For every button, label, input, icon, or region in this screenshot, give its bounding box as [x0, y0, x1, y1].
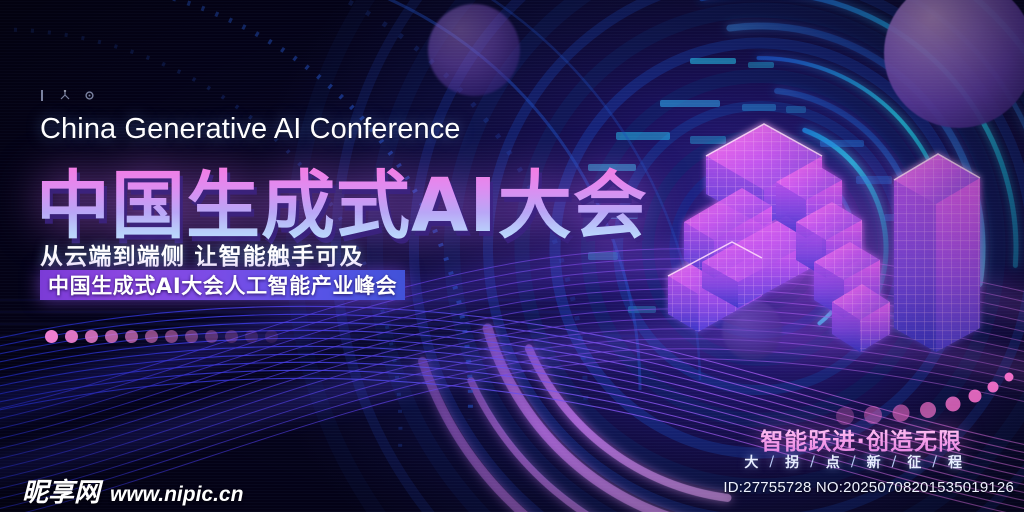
- pink-dot: [165, 330, 178, 343]
- slogan-separator: /: [921, 454, 948, 470]
- pink-dot: [125, 330, 138, 343]
- pink-dot-row: [45, 330, 278, 343]
- english-title: China Generative AI Conference: [40, 113, 461, 146]
- watermark: 昵享网 www.nipic.cn: [22, 472, 243, 509]
- slogan-word: 程: [948, 452, 962, 472]
- slogan-word: 大: [744, 452, 758, 472]
- watermark-url: www.nipic.cn: [110, 483, 243, 507]
- slogan-word: 新: [867, 452, 881, 472]
- pink-dot: [225, 330, 238, 343]
- pink-dot-arc: [835, 368, 1024, 430]
- decorative-icon-row: [38, 90, 95, 101]
- pink-dot-arc-svg: [835, 368, 1024, 430]
- slogan-separator: /: [840, 454, 867, 470]
- pink-dot: [265, 330, 278, 343]
- bar-icon: [38, 90, 46, 101]
- id-line: ID:27755728 NO:20250708201535019126: [723, 479, 1014, 496]
- tagline: 智能跃进·创造无限: [760, 422, 962, 456]
- pink-dot: [145, 330, 158, 343]
- chinese-band-text: 中国生成式AI大会人工智能产业峰会: [48, 270, 397, 300]
- chinese-subtitle: 从云端到端侧 让智能触手可及: [40, 237, 364, 271]
- pink-dot: [245, 330, 258, 343]
- watermark-site-name: 昵享网: [22, 472, 100, 509]
- slogan-word: 点: [826, 452, 840, 472]
- pink-dot: [205, 330, 218, 343]
- slogan-row: 大/拐/点/新/征/程: [744, 452, 962, 472]
- pink-dot: [85, 330, 98, 343]
- slogan-word: 拐: [785, 452, 799, 472]
- pink-dot: [105, 330, 118, 343]
- slogan-word: 征: [907, 452, 921, 472]
- slogan-separator: /: [881, 454, 908, 470]
- pink-dot: [65, 330, 78, 343]
- pink-dot: [185, 330, 198, 343]
- slogan-separator: /: [758, 454, 785, 470]
- pink-dot: [45, 330, 58, 343]
- slogan-separator: /: [799, 454, 826, 470]
- chinese-highlight-band: 中国生成式AI大会人工智能产业峰会: [40, 270, 405, 300]
- node-icon: [59, 90, 71, 101]
- gear-icon: [84, 90, 95, 101]
- conference-banner: China Generative AI Conference 中国生成式AI大会…: [0, 0, 1024, 512]
- banner-content: China Generative AI Conference 中国生成式AI大会…: [0, 0, 1024, 512]
